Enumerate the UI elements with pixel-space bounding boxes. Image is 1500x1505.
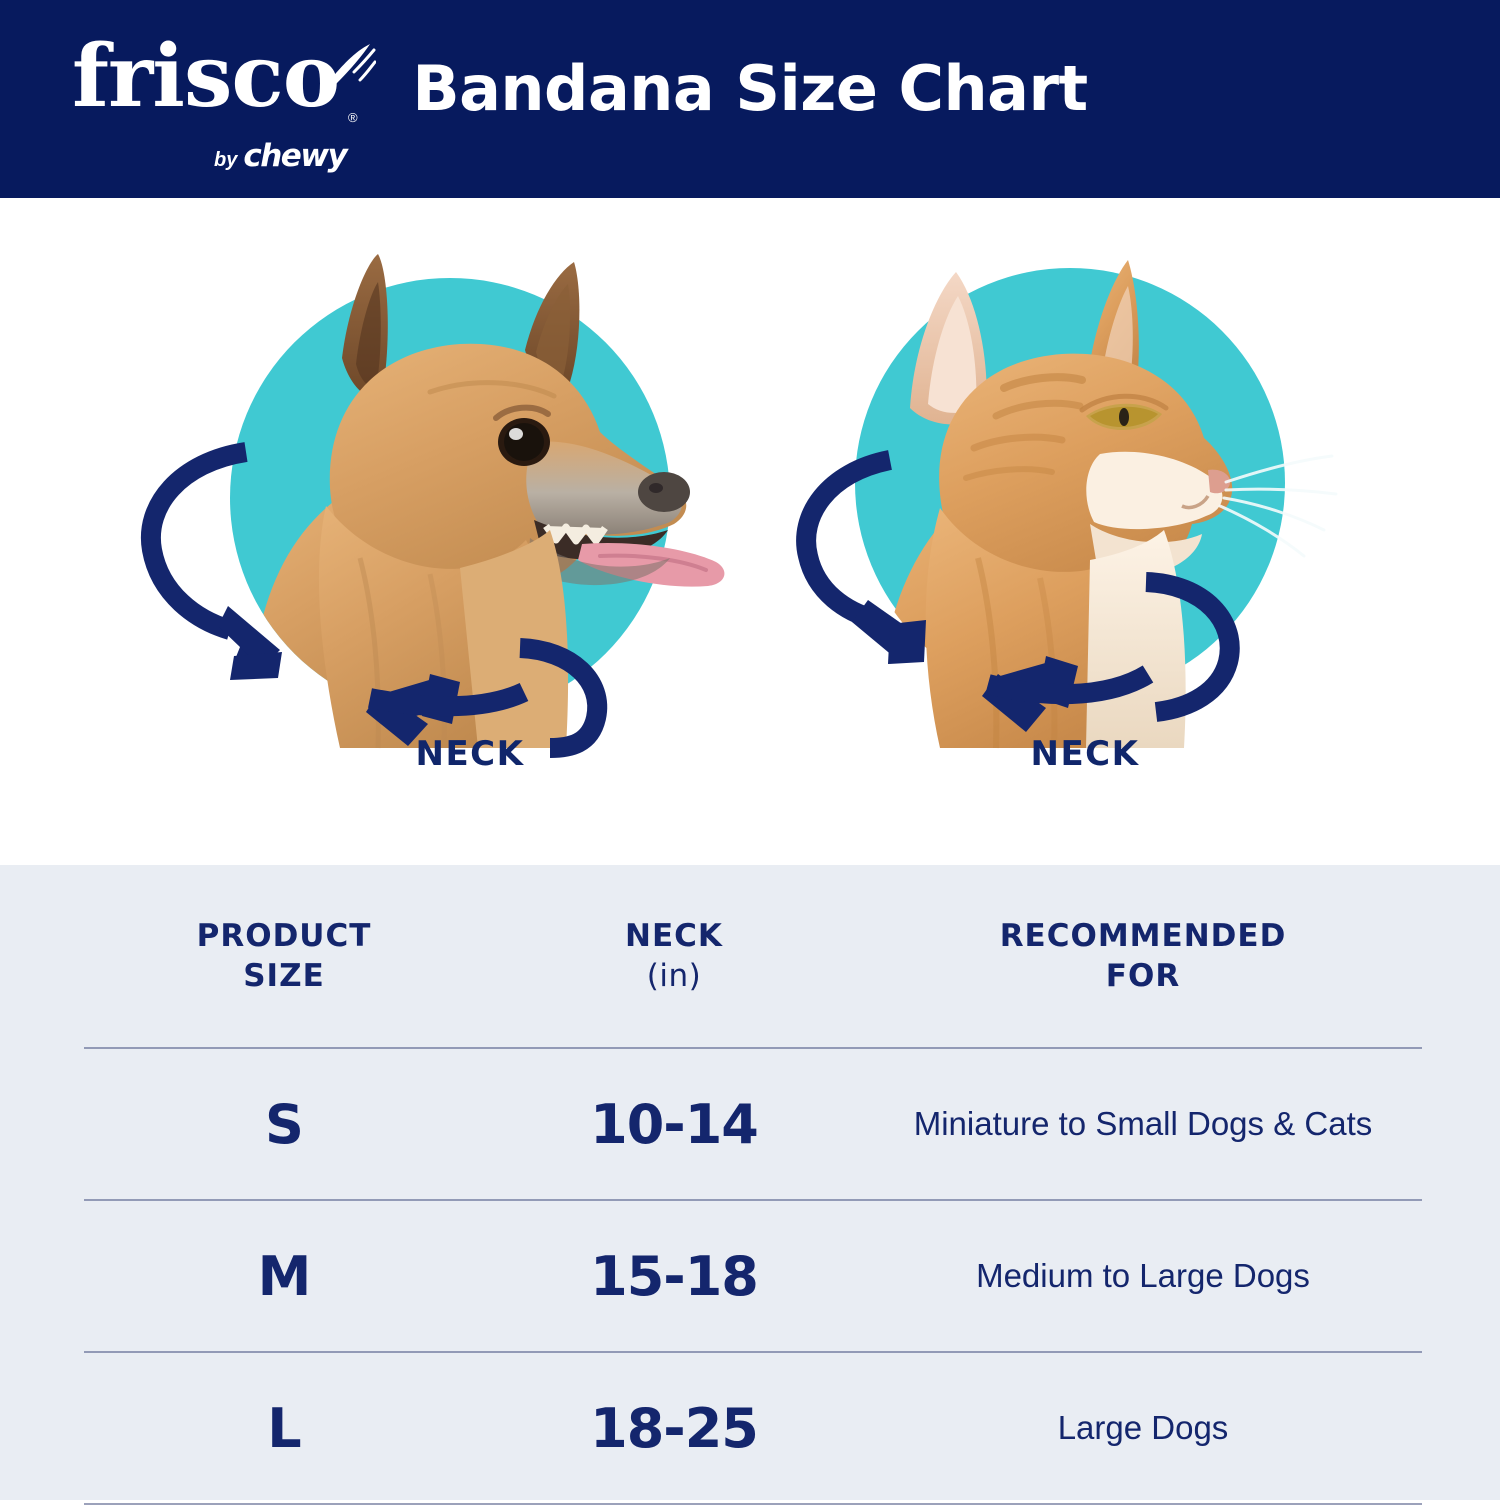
column-header-product-size: PRODUCT SIZE — [84, 916, 484, 997]
header-recommended-line2: FOR — [1106, 958, 1180, 994]
cell-neck-range: 10-14 — [484, 1093, 864, 1156]
logo-byline: by chewy — [214, 138, 346, 174]
cat-measurement-illustration: NECK — [790, 198, 1390, 865]
dog-photo — [130, 238, 730, 748]
header-recommended-line1: RECOMMENDED — [1000, 918, 1287, 954]
header-neck-line1: NECK — [625, 918, 723, 954]
dog-neck-label: NECK — [170, 734, 770, 774]
dog-neck-arrow-left — [151, 452, 246, 630]
illustration-area: NECK — [0, 198, 1500, 865]
column-header-neck: NECK (in) — [484, 916, 864, 997]
logo-by-text: by — [214, 149, 237, 172]
header-product-size-line2: SIZE — [243, 958, 325, 994]
cat-stage — [790, 238, 1390, 708]
table-row: L 18-25 Large Dogs — [84, 1353, 1422, 1503]
cell-product-size: M — [84, 1245, 484, 1308]
header-bar: frisco ® by chewy Bandana Size Chart — [0, 0, 1500, 198]
header-neck-unit: (in) — [484, 956, 864, 996]
size-table-area: PRODUCT SIZE NECK (in) RECOMMENDED FOR S… — [0, 865, 1500, 1500]
size-table: PRODUCT SIZE NECK (in) RECOMMENDED FOR S… — [84, 865, 1422, 1505]
cell-neck-range: 18-25 — [484, 1397, 864, 1460]
cell-recommended-for: Large Dogs — [864, 1407, 1422, 1449]
column-header-recommended-for: RECOMMENDED FOR — [864, 916, 1422, 997]
dog-stage — [130, 238, 730, 708]
size-chart-page: frisco ® by chewy Bandana Size Chart — [0, 0, 1500, 1500]
cell-product-size: L — [84, 1397, 484, 1460]
cat-neck-label: NECK — [785, 734, 1385, 774]
dog-measurement-illustration: NECK — [130, 198, 730, 865]
cell-recommended-for: Miniature to Small Dogs & Cats — [864, 1103, 1422, 1145]
table-header-row: PRODUCT SIZE NECK (in) RECOMMENDED FOR — [84, 865, 1422, 1047]
cell-recommended-for: Medium to Large Dogs — [864, 1255, 1422, 1297]
page-title: Bandana Size Chart — [0, 52, 1500, 125]
table-row: S 10-14 Miniature to Small Dogs & Cats — [84, 1049, 1422, 1199]
logo-chewy-text: chewy — [243, 138, 346, 174]
table-row: M 15-18 Medium to Large Dogs — [84, 1201, 1422, 1351]
cat-neck-arrow-left — [806, 460, 890, 620]
header-product-size-line1: PRODUCT — [197, 918, 372, 954]
cat-photo — [790, 238, 1390, 748]
cell-neck-range: 15-18 — [484, 1245, 864, 1308]
cell-product-size: S — [84, 1093, 484, 1156]
